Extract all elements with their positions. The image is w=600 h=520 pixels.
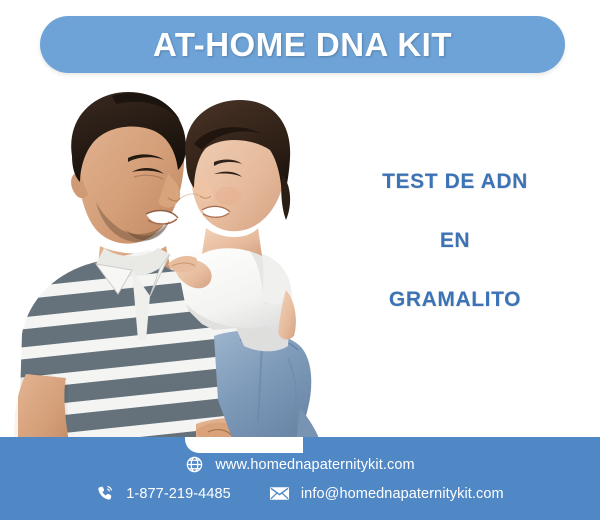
website-label: www.homednapaternitykit.com [215, 457, 414, 473]
footer-contact-row: 1-877-219-4485 info@homednapaternitykit.… [0, 484, 600, 503]
poster: AT-HOME DNA KIT [0, 0, 600, 520]
headline-block: TEST DE ADN EN GRAMALITO [330, 150, 580, 310]
footer-notch [185, 437, 303, 453]
headline-line-1: TEST DE ADN [330, 171, 580, 192]
headline-line-3: GRAMALITO [330, 289, 580, 310]
family-photo [0, 78, 340, 460]
title-banner: AT-HOME DNA KIT [40, 16, 565, 73]
phone-ringing-icon [96, 484, 115, 503]
phone-label: 1-877-219-4485 [126, 486, 231, 502]
phone-contact[interactable]: 1-877-219-4485 [96, 484, 231, 503]
globe-icon [185, 455, 204, 474]
website-contact[interactable]: www.homednapaternitykit.com [185, 455, 414, 474]
family-photo-illustration [0, 78, 340, 460]
headline-line-2: EN [330, 230, 580, 251]
envelope-icon [269, 484, 290, 503]
email-contact[interactable]: info@homednapaternitykit.com [269, 484, 504, 503]
page-title: AT-HOME DNA KIT [153, 26, 452, 64]
email-label: info@homednapaternitykit.com [301, 486, 504, 502]
footer-website-row: www.homednapaternitykit.com [0, 455, 600, 474]
